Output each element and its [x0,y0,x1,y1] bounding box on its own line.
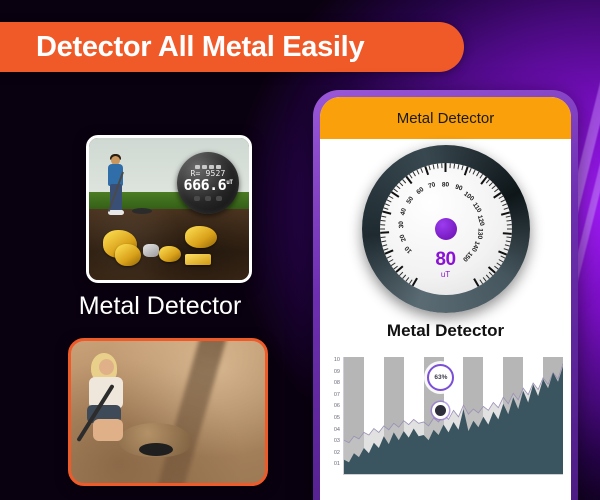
photo-woman-beach-detecting [68,338,268,486]
gauge-bezel: 80 uT 1020304050607080901001101201301401… [362,145,530,313]
person-legs [93,419,123,441]
chart-y-tick: 03 [334,439,340,445]
chart-y-tick: 08 [334,381,340,387]
person-head [99,359,114,375]
device-main-readout: 666.6uT [184,178,233,193]
header-banner: Detector All Metal Easily [0,22,464,72]
chart-y-tick: 02 [334,451,340,457]
photo-man-detecting: R= 9527 666.6uT [86,135,252,283]
gauge-tick-label: 30 [398,221,405,229]
gold-nugget [185,226,217,248]
gauge-container: 80 uT 1020304050607080901001101201301401… [320,139,571,319]
page-title: Metal Detector [60,292,260,321]
chart-y-axis: 10090807060504030201 [326,357,343,475]
chart-y-tick: 10 [334,358,340,364]
gold-nugget [115,244,141,266]
chart-y-tick: 01 [334,462,340,468]
app-heading: Metal Detector [320,321,571,351]
gold-bar [185,254,211,265]
gauge-tick-label: 130 [476,228,484,239]
app-bar: Metal Detector [320,97,571,139]
gold-nugget [159,246,181,262]
device-unit: uT [226,179,232,186]
promo-screenshot: Detector All Metal Easily R= 9527 666.6u… [0,0,600,500]
chart-y-tick: 04 [334,428,340,434]
chart-container: 10090807060504030201 63% [320,351,571,479]
app-bar-title: Metal Detector [397,110,495,127]
phone-mockup: Metal Detector 80 uT 1020304050607080901… [313,90,578,500]
chart-y-tick: 09 [334,370,340,376]
header-title: Detector All Metal Easily [0,31,364,64]
chart-y-tick: 07 [334,393,340,399]
person-shoe [108,210,124,215]
detector-coil [132,208,152,214]
chart-annotation-label: 63% [434,374,447,381]
detector-coil [139,443,173,456]
handheld-detector-device: R= 9527 666.6uT [177,152,239,214]
chart-y-tick: 06 [334,404,340,410]
gauge-face: 80 uT 1020304050607080901001101201301401… [380,163,512,295]
chart-plot: 63% [343,357,563,475]
gauge-tick-label: 80 [442,182,449,189]
chart-y-tick: 05 [334,416,340,422]
device-buttons [194,196,222,201]
rock [143,244,159,257]
phone-screen: Metal Detector 80 uT 1020304050607080901… [320,97,571,500]
chart-marker-dot [435,405,446,416]
